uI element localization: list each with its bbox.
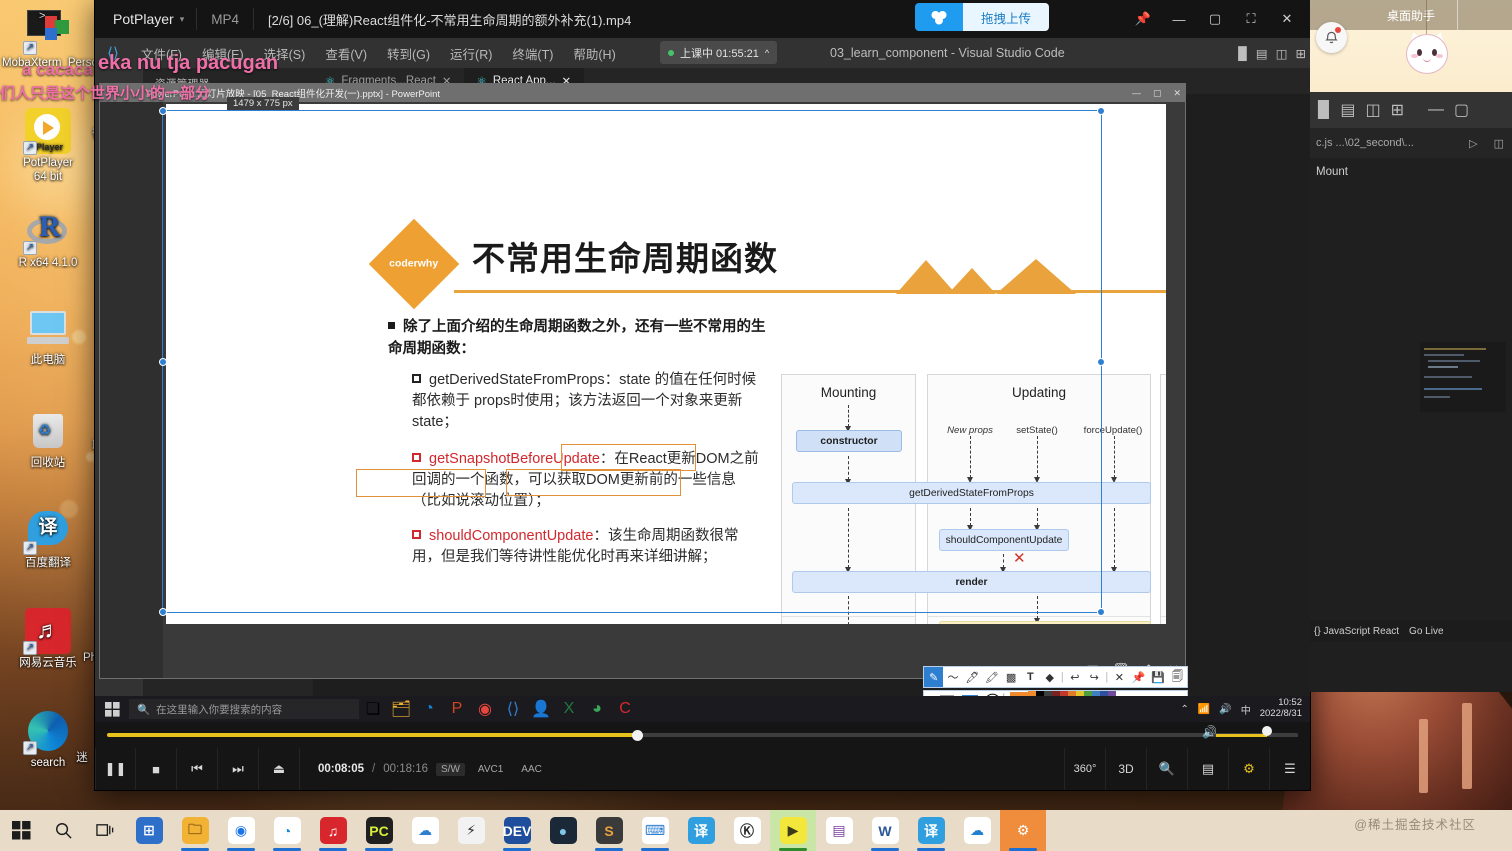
run-icon[interactable]: ▷ xyxy=(1469,137,1485,150)
flow-arrow xyxy=(848,508,849,568)
shortcut-arrow-icon: ↗ xyxy=(23,241,37,255)
flow-arrow xyxy=(848,596,849,624)
task-view-icon[interactable] xyxy=(84,810,126,851)
flow-arrow xyxy=(1114,436,1115,478)
microsoft-edge-icon: ◔ xyxy=(274,817,301,844)
thunder-icon: ⚡ xyxy=(458,817,485,844)
editor-breadcrumb[interactable]: c.js ...\02_second\... ▷ ◫ xyxy=(1310,128,1512,158)
language-mode[interactable]: {} JavaScript React xyxy=(1314,626,1399,637)
360-icon[interactable]: 360° xyxy=(1064,748,1105,790)
this-pc-icon xyxy=(25,305,71,351)
menu-goto[interactable]: 转到(G) xyxy=(377,44,440,63)
player-right-controls[interactable]: 360° 3D 🔍 ▤ ⚙ ☰ xyxy=(1064,748,1310,790)
desktop-icon-potplayer[interactable]: Player ↗ PotPlayer64 bit xyxy=(2,108,94,185)
volume-icon[interactable]: 🔊 xyxy=(1219,704,1231,715)
drive-icon[interactable]: ◕ xyxy=(583,696,611,722)
powerpoint-body: coderwhy 不常用生命周期函数 除了上面介绍的生命周期函数之外，还有一些不… xyxy=(100,102,1185,678)
potplayer-controls[interactable]: ❚❚ ■ ⏮ ⏭ ⏏ 00:08:05 / 00:18:16 S/W AVC1 … xyxy=(95,722,1310,790)
pin-icon[interactable]: 📌 xyxy=(1126,2,1160,36)
class-timer-label: 上课中 01:55:21 xyxy=(680,45,759,61)
google-chrome-icon: ◉ xyxy=(228,817,255,844)
texture-icon[interactable]: ▩ xyxy=(1001,667,1020,687)
taskbar-app-onedrive[interactable]: ☁ xyxy=(954,810,1000,851)
toggle-panel-icon[interactable]: ▤ xyxy=(1256,46,1268,61)
taskbar-app-potplayer[interactable]: ▶ xyxy=(770,810,816,851)
coderwhy-logo-text: coderwhy xyxy=(389,258,438,270)
excel-icon[interactable]: X xyxy=(555,696,583,722)
menu-view[interactable]: 查看(V) xyxy=(315,44,377,63)
cat-avatar[interactable] xyxy=(1406,34,1448,74)
hollow-square-bullet-icon xyxy=(412,453,421,462)
slide-item-2: getSnapshotBeforeUpdate：在React更新DOM之前回调的… xyxy=(412,449,762,512)
previous-icon[interactable]: ⏮ xyxy=(177,748,218,790)
cloud-upload-icon xyxy=(915,3,963,31)
taskbar-app-pycharm[interactable]: PC xyxy=(356,810,402,851)
badge-aac: AAC xyxy=(516,763,547,776)
chevron-up-icon[interactable]: ⌃ xyxy=(1180,704,1188,715)
subtitle-line-2: 们人只是这个世界小小的一部分 xyxy=(0,82,210,103)
current-time: 00:08:05 xyxy=(318,763,364,775)
shortcut-arrow-icon: ↗ xyxy=(23,641,37,655)
close-ink-icon[interactable]: ✕ xyxy=(1110,667,1129,687)
sublime-text-icon: S xyxy=(596,817,623,844)
toggle-editor-layout-icon[interactable]: ◫ xyxy=(1365,100,1380,120)
assistant-title: 桌面助手 xyxy=(1387,7,1435,24)
cat-blush-right xyxy=(1436,54,1443,58)
editor-code-fragment: Mount xyxy=(1310,158,1512,186)
minimize-icon[interactable]: — xyxy=(1132,88,1141,98)
edge-icon: ↗ xyxy=(25,708,71,754)
ink-mode-icon[interactable]: ✎ xyxy=(924,667,943,687)
volume-icon[interactable]: 🔊 xyxy=(1202,725,1217,739)
text-icon[interactable]: T xyxy=(1021,667,1040,687)
mountain-decoration xyxy=(896,259,1076,294)
square-bullet-icon xyxy=(388,322,395,329)
shortcut-arrow-icon: ↗ xyxy=(23,541,37,555)
customize-layout-icon[interactable]: ⊞ xyxy=(1296,46,1306,61)
steam-icon: ● xyxy=(550,817,577,844)
trigger-forceupdate: forceUpdate() xyxy=(1075,425,1151,436)
onedrive-icon: ☁ xyxy=(964,817,991,844)
video-canvas[interactable]: ⟨⟩ 文件(F) 编辑(E) 选择(S) 查看(V) 转到(G) 运行(R) 终… xyxy=(95,38,1310,722)
edge-icon[interactable]: ◔ xyxy=(415,696,443,722)
slide-item-1: getDerivedStateFromProps：state 的值在任何时候都依… xyxy=(412,370,762,433)
taskbar-app-steam[interactable]: ● xyxy=(540,810,586,851)
flow-arrow xyxy=(1037,596,1038,619)
desktop-icon-r[interactable]: R ↗ R x64 4.1.0 xyxy=(2,208,94,271)
menu-run[interactable]: 运行(R) xyxy=(440,44,502,63)
hollow-square-bullet-icon xyxy=(412,530,421,539)
potplayer-window: PotPlayer ▾ MP4 [2/6] 06_(理解)React组件化-不常… xyxy=(95,0,1310,790)
slide-item-term: getSnapshotBeforeUpdate xyxy=(429,451,600,467)
wallpaper-strap xyxy=(1462,703,1472,789)
lifecycle-diagram: Mounting Updating Unmounting New pro xyxy=(781,374,1166,624)
slide-canvas[interactable]: coderwhy 不常用生命周期函数 除了上面介绍的生命周期函数之外，还有一些不… xyxy=(166,104,1166,624)
file-explorer-icon: 🗀 xyxy=(182,817,209,844)
volume-track[interactable] xyxy=(1216,734,1298,737)
windows-start-icon[interactable] xyxy=(0,810,42,851)
customize-layout-icon[interactable]: ⊞ xyxy=(1391,100,1404,120)
divider xyxy=(1457,0,1458,30)
scribble-icon[interactable]: 〜 xyxy=(943,667,962,687)
maximize-icon[interactable]: ▢ xyxy=(1198,2,1232,36)
eraser-icon[interactable]: ◆ xyxy=(1040,667,1059,687)
slide-item-3: shouldComponentUpdate：该生命周期函数很常用，但是我们等待讲… xyxy=(412,526,762,568)
qq-browser-icon: 译 xyxy=(688,817,715,844)
potplayer-window-buttons[interactable]: 📌 — ▢ ⛶ ✕ xyxy=(1126,0,1304,38)
taskbar-app-microsoft-edge[interactable]: ◔ xyxy=(264,810,310,851)
app-icon[interactable]: C xyxy=(611,696,639,722)
taskbar-app-microsoft-word[interactable]: W xyxy=(862,810,908,851)
baidu-translate-icon: 译 ↗ xyxy=(25,508,71,554)
captured-taskbar[interactable]: 🔍 在这里输入你要搜索的内容 ❏ 🗂 ◔ P ◉ ⟨⟩ 👤 X ◕ C ⌃ 📶 … xyxy=(95,696,1310,722)
volume-handle[interactable] xyxy=(1262,726,1272,736)
taskbar-app-baidu-translate[interactable]: 译 xyxy=(908,810,954,851)
flow-arrow xyxy=(1003,554,1004,568)
background-vscode-status[interactable]: {} JavaScript React Go Live xyxy=(1310,620,1512,642)
toggle-sidebar-icon[interactable]: ▉ xyxy=(1318,100,1330,120)
desktop-icon-this-pc[interactable]: 此电脑 xyxy=(2,305,94,368)
desktop-icon-label: 此电脑 xyxy=(2,354,94,368)
lane-title: Updating xyxy=(928,375,1150,400)
hollow-square-bullet-icon xyxy=(412,374,421,383)
microsoft-store-icon: ⊞ xyxy=(136,817,163,844)
potplayer-titlebar[interactable]: PotPlayer ▾ MP4 [2/6] 06_(理解)React组件化-不常… xyxy=(95,0,1310,38)
vs-code-icon: ⌨ xyxy=(642,817,669,844)
jianguoyun-icon: Ⓚ xyxy=(734,817,761,844)
shortcut-arrow-icon: ↗ xyxy=(23,141,37,155)
contact-icon[interactable]: 👤 xyxy=(527,696,555,722)
slide-bullet-main-text: 除了上面介绍的生命周期函数之外，还有一些不常用的生命周期函数： xyxy=(388,319,766,357)
node-shouldcomponentupdate: shouldComponentUpdate xyxy=(939,529,1069,551)
node-render: render xyxy=(792,571,1151,593)
taskbar-items[interactable]: ⊞🗀◉◔♫PC☁⚡DEV●S⌨译Ⓚ▶▤W译☁⚙ xyxy=(0,810,1512,851)
taskbar-app-netease-music[interactable]: ♫ xyxy=(310,810,356,851)
cat-blush-left xyxy=(1411,54,1418,58)
seek-progress xyxy=(107,733,637,737)
flow-arrow xyxy=(970,436,971,478)
taskbar-app-baidu-netdisk[interactable]: ☁ xyxy=(402,810,448,851)
powerpoint-window: PowerPoint 幻灯片放映 - [05_React组件化开发(一).ppt… xyxy=(100,84,1185,678)
maximize-icon[interactable]: ▢ xyxy=(1454,100,1469,120)
settings-gear-icon[interactable]: ⚙ xyxy=(1228,748,1269,790)
undo-icon[interactable]: ↩ xyxy=(1065,667,1084,687)
coderwhy-logo: coderwhy xyxy=(369,219,460,310)
trigger-setstate: setState() xyxy=(1007,425,1067,436)
netease-music-icon: ♬ ↗ xyxy=(25,608,71,654)
media-file-title: [2/6] 06_(理解)React组件化-不常用生命周期的额外补充(1).mp… xyxy=(254,10,645,29)
class-timer-badge[interactable]: 上课中 01:55:21 ^ xyxy=(660,41,777,64)
slide-item-term: getDerivedStateFromProps xyxy=(429,372,605,388)
toggle-panel-icon[interactable]: ▤ xyxy=(1340,100,1355,120)
node-constructor: constructor xyxy=(796,430,902,452)
chevron-up-icon[interactable]: ^ xyxy=(765,48,769,58)
red-x-annotation: ✕ xyxy=(1013,549,1026,567)
image-watermark: @稀土掘金技术社区 xyxy=(1354,814,1476,833)
copy-icon[interactable]: 🗐 xyxy=(1168,667,1187,687)
close-icon[interactable]: ✕ xyxy=(1270,2,1304,36)
go-live-label[interactable]: Go Live xyxy=(1409,626,1443,637)
onenote-icon: ▤ xyxy=(826,817,853,844)
flow-arrow xyxy=(848,405,849,427)
taskbar-app-google-chrome[interactable]: ◉ xyxy=(218,810,264,851)
potplayer-icon: Player ↗ xyxy=(25,108,71,154)
active-window-icon: ⚙ xyxy=(1010,817,1037,844)
microsoft-word-icon: W xyxy=(872,817,899,844)
vscode-window-title: 03_learn_component - Visual Studio Code xyxy=(830,38,1065,68)
pycharm-icon: PC xyxy=(366,817,393,844)
task-view-icon[interactable]: ❏ xyxy=(359,696,387,722)
close-icon[interactable]: ✕ xyxy=(1173,88,1181,99)
stop-icon[interactable]: ■ xyxy=(136,748,177,790)
lane-unmounting: Unmounting xyxy=(1160,374,1166,624)
eject-icon[interactable]: ⏏ xyxy=(259,748,300,790)
time-separator: / xyxy=(372,763,375,775)
captured-search-input[interactable]: 🔍 在这里输入你要搜索的内容 xyxy=(129,699,359,719)
breadcrumb-label: c.js ...\02_second\... xyxy=(1316,137,1414,149)
3d-icon[interactable]: 3D xyxy=(1105,748,1146,790)
trigger-new-props: New props xyxy=(937,425,1003,436)
volume-level xyxy=(1216,734,1267,737)
windows-taskbar[interactable]: ⊞🗀◉◔♫PC☁⚡DEV●S⌨译Ⓚ▶▤W译☁⚙ 👥 ⌃ 🐧 📶 ⛊ ▭ ⌨ 英 … xyxy=(0,810,1512,851)
total-time: 00:18:16 xyxy=(383,763,428,775)
dev-cpp-icon: DEV xyxy=(504,817,531,844)
split-editor-icon[interactable]: ◫ xyxy=(1494,137,1512,150)
wallpaper-strap xyxy=(1419,719,1428,793)
seek-handle[interactable] xyxy=(632,730,643,741)
search-icon: 🔍 xyxy=(137,703,150,716)
taskbar-app-jianguoyun[interactable]: Ⓚ xyxy=(724,810,770,851)
lane-title: Unmounting xyxy=(1161,375,1166,400)
powerpoint-side-panel xyxy=(100,102,163,678)
desktop-icon-label: PotPlayer64 bit xyxy=(2,157,94,185)
baidu-translate-icon: 译 xyxy=(918,817,945,844)
highlighter-icon[interactable]: 🖍 xyxy=(982,667,1001,687)
flow-arrow xyxy=(1037,508,1038,526)
save-icon[interactable]: 💾 xyxy=(1148,667,1167,687)
powerpoint-titlebar[interactable]: PowerPoint 幻灯片放映 - [05_React组件化开发(一).ppt… xyxy=(100,84,1185,102)
menu-terminal[interactable]: 终端(T) xyxy=(502,44,563,63)
next-icon[interactable]: ⏭ xyxy=(218,748,259,790)
seek-bar[interactable] xyxy=(107,733,1298,737)
badge-sw: S/W xyxy=(436,763,465,776)
editor-minimap[interactable] xyxy=(1420,342,1506,412)
ime-icon[interactable]: 中 xyxy=(1241,702,1251,717)
taskbar-app-sublime-text[interactable]: S xyxy=(586,810,632,851)
windows-start-icon[interactable] xyxy=(95,702,129,717)
taskbar-app-microsoft-store[interactable]: ⊞ xyxy=(126,810,172,851)
recycle-bin-icon: ♻ xyxy=(25,408,71,454)
menu-help[interactable]: 帮助(H) xyxy=(563,44,625,63)
minimize-icon[interactable]: — xyxy=(1428,101,1444,119)
bell-icon[interactable] xyxy=(1316,22,1347,53)
vscode-layout-buttons[interactable]: ▉ ▤ ◫ ⊞ xyxy=(1238,38,1306,68)
taskbar-app-qq-browser[interactable]: 译 xyxy=(678,810,724,851)
notification-dot xyxy=(1335,27,1341,33)
media-format-label: MP4 xyxy=(197,12,253,27)
lane-title: Mounting xyxy=(782,375,915,400)
redo-icon[interactable]: ↪ xyxy=(1085,667,1104,687)
captured-clock[interactable]: 10:52 2022/8/31 xyxy=(1260,698,1302,720)
playlist-icon[interactable]: ▤ xyxy=(1187,748,1228,790)
r-language-icon: R ↗ xyxy=(25,208,71,254)
powerpoint-window-buttons[interactable]: — ▢ ✕ xyxy=(1132,84,1181,102)
file-explorer-icon[interactable]: 🗂 xyxy=(387,696,415,722)
desktop-icon-label: R x64 4.1.0 xyxy=(2,257,94,271)
toggle-editor-layout-icon[interactable]: ◫ xyxy=(1276,46,1288,61)
fullscreen-icon[interactable]: ⛶ xyxy=(1234,2,1268,36)
pause-icon[interactable]: ❚❚ xyxy=(95,748,136,790)
status-dot-icon xyxy=(668,50,674,56)
badge-avc1: AVC1 xyxy=(473,763,508,776)
baidu-netdisk-icon: ☁ xyxy=(412,817,439,844)
chevron-down-icon[interactable]: ▾ xyxy=(180,14,185,25)
taskbar-app-active-window[interactable]: ⚙ xyxy=(1000,810,1046,851)
taskbar-app-dev-cpp[interactable]: DEV xyxy=(494,810,540,851)
flow-arrow xyxy=(1037,436,1038,478)
chrome-icon[interactable]: ◉ xyxy=(471,696,499,722)
taskbar-app-thunder[interactable]: ⚡ xyxy=(448,810,494,851)
minimize-icon[interactable]: — xyxy=(1162,2,1196,36)
search-icon[interactable]: 🔍 xyxy=(1146,748,1187,790)
node-getderivedstatefromprops: getDerivedStateFromProps xyxy=(792,482,1151,504)
drag-upload-button[interactable]: 拖拽上传 xyxy=(915,3,1049,31)
desktop-icon-label: 百度翻译 xyxy=(2,557,94,571)
pin-icon[interactable]: 📌 xyxy=(1129,667,1148,687)
maximize-icon[interactable]: ▢ xyxy=(1153,88,1162,99)
vscode-layout-buttons[interactable]: ▉ ▤ ◫ ⊞ — ▢ xyxy=(1310,92,1512,128)
captured-tray[interactable]: ⌃ 📶 🔊 中 10:52 2022/8/31 xyxy=(1180,698,1310,720)
flow-arrow xyxy=(1114,508,1115,568)
flow-arrow xyxy=(848,456,849,480)
powerpoint-icon[interactable]: P xyxy=(443,696,471,722)
slide-title: 不常用生命周期函数 xyxy=(472,232,778,280)
netease-music-icon: ♫ xyxy=(320,817,347,844)
pen-icon[interactable]: 🖊 xyxy=(963,667,982,687)
toggle-sidebar-icon[interactable]: ▉ xyxy=(1238,46,1248,61)
shortcut-arrow-icon: ↗ xyxy=(23,741,37,755)
mobaxterm-icon: >_ ↗ xyxy=(25,8,71,54)
taskbar-app-onenote[interactable]: ▤ xyxy=(816,810,862,851)
vscode-icon[interactable]: ⟨⟩ xyxy=(499,696,527,722)
menu-icon[interactable]: ☰ xyxy=(1269,748,1310,790)
node-getsnapshotbeforeupdate: getSnapshotBeforeUpdate xyxy=(939,621,1151,624)
slide-item-term: shouldComponentUpdate xyxy=(429,528,593,544)
flow-arrow xyxy=(970,508,971,526)
desktop-icon-label: 回收站 xyxy=(2,457,94,471)
captured-date: 2022/8/31 xyxy=(1260,709,1302,720)
taskbar-app-vs-code[interactable]: ⌨ xyxy=(632,810,678,851)
taskbar-app-file-explorer[interactable]: 🗀 xyxy=(172,810,218,851)
potplayer-icon: ▶ xyxy=(780,817,807,844)
search-placeholder: 在这里输入你要搜索的内容 xyxy=(156,702,282,717)
drag-upload-label: 拖拽上传 xyxy=(963,3,1049,31)
avatar-string xyxy=(1426,0,1427,34)
background-vscode-fragment: ▉ ▤ ◫ ⊞ — ▢ c.js ...\02_second\... ▷ ◫ M… xyxy=(1310,92,1512,692)
subtitle-line-1: eka nu tja pacugan xyxy=(98,52,278,75)
desktop-assistant-panel[interactable]: 桌面助手 xyxy=(1310,0,1512,92)
potplayer-app-name: PotPlayer xyxy=(95,11,184,27)
shortcut-arrow-icon: ↗ xyxy=(23,41,37,55)
transport-controls[interactable]: ❚❚ ■ ⏮ ⏭ ⏏ 00:08:05 / 00:18:16 S/W AVC1 … xyxy=(95,748,1310,790)
ink-toolbar-row-1[interactable]: ✎ 〜 🖊 🖍 ▩ T ◆ | ↩ ↪ | ✕ 📌 💾 🗐 xyxy=(923,666,1188,688)
time-display: 00:08:05 / 00:18:16 S/W AVC1 AAC xyxy=(300,763,547,776)
desktop-icon-baidu-translate[interactable]: 译 ↗ 百度翻译 xyxy=(2,508,94,571)
network-icon[interactable]: 📶 xyxy=(1198,704,1210,715)
slide-bullet-main: 除了上面介绍的生命周期函数之外，还有一些不常用的生命周期函数： xyxy=(388,316,768,360)
search-icon[interactable] xyxy=(42,810,84,851)
